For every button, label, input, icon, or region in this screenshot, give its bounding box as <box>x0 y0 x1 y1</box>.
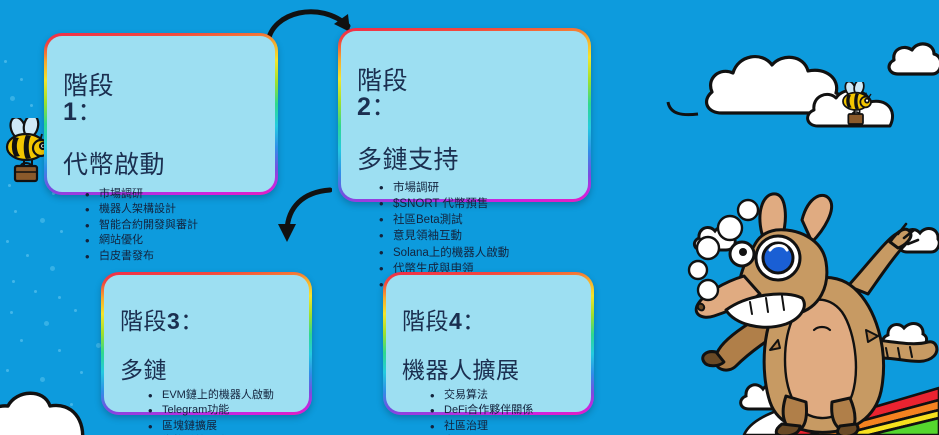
phase-3-number: 3 <box>167 308 180 334</box>
phase-1-title: 階段 1： 代幣啟動 <box>63 46 261 179</box>
phase-4-subtitle: 機器人擴展 <box>402 357 520 383</box>
list-item: 網站優化 <box>85 233 261 249</box>
phase-2-title: 階段 2： 多鏈支持 <box>357 41 574 174</box>
card-body: 階段 1： 代幣啟動 市場調研 機器人架構設計 智能合約開發與審計 網站優化 白… <box>47 36 275 192</box>
list-item: 智能合約開發與審計 <box>85 218 261 234</box>
list-item: 意見領袖互動 <box>379 228 574 244</box>
curved-arrow-down-icon <box>262 186 332 248</box>
sparkle-field-top-left <box>0 0 40 110</box>
phase-2-number: 2 <box>357 93 371 121</box>
list-item: 區塊鏈擴展 <box>148 419 295 435</box>
smoke-puff-icon <box>686 196 766 306</box>
cloud-icon-bottom-left <box>0 386 96 435</box>
phase-2-subtitle: 多鏈支持 <box>357 146 459 174</box>
phase-2-label: 階段 <box>357 67 408 95</box>
list-item: 交易算法 <box>430 388 577 404</box>
list-item: 市場調研 <box>85 187 261 203</box>
phase-2-colon: ： <box>371 93 397 121</box>
list-item: Telegram功能 <box>148 403 295 419</box>
list-item: 市場調研 <box>379 180 574 196</box>
card-body: 階段4： 機器人擴展 交易算法 DeFi合作夥伴關係 社區治理 交易API 生態… <box>386 275 591 412</box>
phase-1-item-list: 市場調研 機器人架構設計 智能合約開發與審計 網站優化 白皮書發布 <box>85 187 261 265</box>
phase-4-item-list: 交易算法 DeFi合作夥伴關係 社區治理 交易API 生態系統擴展 <box>430 388 577 435</box>
phase-1-number: 1 <box>63 98 77 126</box>
list-item: $SNORT 代幣預售 <box>379 196 574 212</box>
phase-1-label: 階段 <box>63 72 114 100</box>
phase-3-title: 階段3： 多鏈 <box>120 285 295 383</box>
phase-3-colon: ： <box>180 308 204 334</box>
roadmap-scene: 階段 1： 代幣啟動 市場調研 機器人架構設計 智能合約開發與審計 網站優化 白… <box>0 0 939 435</box>
cloud-icon-top-far-right <box>886 40 939 82</box>
phase-1-colon: ： <box>77 98 103 126</box>
phase-4-colon: ： <box>462 308 486 334</box>
list-item: 社區治理 <box>430 419 577 435</box>
list-item: EVM鏈上的機器人啟動 <box>148 388 295 404</box>
roadmap-card-phase-2[interactable]: 階段 2： 多鏈支持 市場調研 $SNORT 代幣預售 社區Beta測試 意見領… <box>338 28 591 202</box>
phase-1-subtitle: 代幣啟動 <box>63 151 165 179</box>
list-item: DeFi合作夥伴關係 <box>430 403 577 419</box>
roadmap-card-phase-4[interactable]: 階段4： 機器人擴展 交易算法 DeFi合作夥伴關係 社區治理 交易API 生態… <box>383 272 594 415</box>
phase-4-title: 階段4： 機器人擴展 <box>402 285 577 383</box>
list-item: 白皮書發布 <box>85 249 261 265</box>
roadmap-card-phase-3[interactable]: 階段3： 多鏈 EVM鏈上的機器人啟動 Telegram功能 區塊鏈擴展 生態系… <box>101 272 312 415</box>
list-item: 機器人架構設計 <box>85 202 261 218</box>
twig-icon <box>666 98 700 122</box>
phase-4-label: 階段 <box>402 308 449 334</box>
list-item: Solana上的機器人啟動 <box>379 245 574 261</box>
bee-with-briefcase-icon-right <box>841 82 873 126</box>
phase-3-subtitle: 多鏈 <box>120 357 167 383</box>
phase-3-label: 階段 <box>120 308 167 334</box>
card-body: 階段 2： 多鏈支持 市場調研 $SNORT 代幣預售 社區Beta測試 意見領… <box>341 31 588 199</box>
phase-4-number: 4 <box>449 308 462 334</box>
roadmap-card-phase-1[interactable]: 階段 1： 代幣啟動 市場調研 機器人架構設計 智能合約開發與審計 網站優化 白… <box>44 33 278 195</box>
list-item: 社區Beta測試 <box>379 212 574 228</box>
phase-3-item-list: EVM鏈上的機器人啟動 Telegram功能 區塊鏈擴展 生態系統開發 用戶儀表… <box>148 388 295 435</box>
card-body: 階段3： 多鏈 EVM鏈上的機器人啟動 Telegram功能 區塊鏈擴展 生態系… <box>104 275 309 412</box>
